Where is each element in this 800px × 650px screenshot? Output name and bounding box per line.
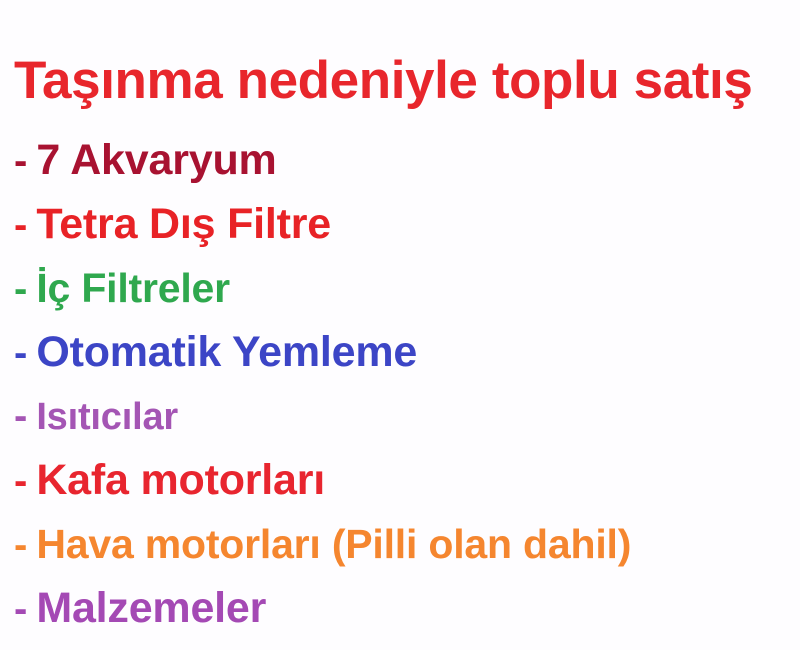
bullet-dash-icon: - — [14, 321, 27, 385]
sale-poster: Taşınma nedeniyle toplu satış -7 Akvaryu… — [0, 0, 800, 637]
bullet-dash-icon: - — [14, 513, 27, 577]
bullet-dash-icon: - — [14, 129, 27, 193]
bullet-dash-icon: - — [14, 257, 27, 321]
list-item: -Isıtıcılar — [0, 384, 800, 448]
list-item-label: İç Filtreler — [36, 256, 230, 320]
list-item: -Tetra Dış Filtre — [0, 192, 800, 256]
list-item: -Otomatik Yemleme — [0, 320, 800, 384]
list-item-label: 7 Akvaryum — [36, 128, 276, 192]
list-item: -Hava motorları (Pilli olan dahil) — [0, 512, 800, 576]
list-item-label: Hava motorları (Pilli olan dahil) — [36, 512, 631, 576]
page-title: Taşınma nedeniyle toplu satış — [14, 50, 800, 112]
list-item-label: Tetra Dış Filtre — [36, 192, 331, 256]
list-item-label: Otomatik Yemleme — [36, 320, 417, 384]
bullet-dash-icon: - — [14, 384, 27, 448]
list-item: -Kafa motorları — [0, 448, 800, 512]
sale-item-list: -7 Akvaryum -Tetra Dış Filtre -İç Filtre… — [0, 128, 800, 640]
list-item: -Malzemeler — [0, 576, 800, 640]
list-item-label: Kafa motorları — [36, 448, 325, 512]
bullet-dash-icon: - — [14, 193, 27, 257]
list-item: -7 Akvaryum — [0, 128, 800, 192]
list-item-label: Malzemeler — [36, 576, 266, 640]
bullet-dash-icon: - — [14, 449, 27, 513]
list-item-label: Isıtıcılar — [36, 385, 178, 449]
bullet-dash-icon: - — [14, 577, 27, 641]
list-item: -İç Filtreler — [0, 256, 800, 320]
